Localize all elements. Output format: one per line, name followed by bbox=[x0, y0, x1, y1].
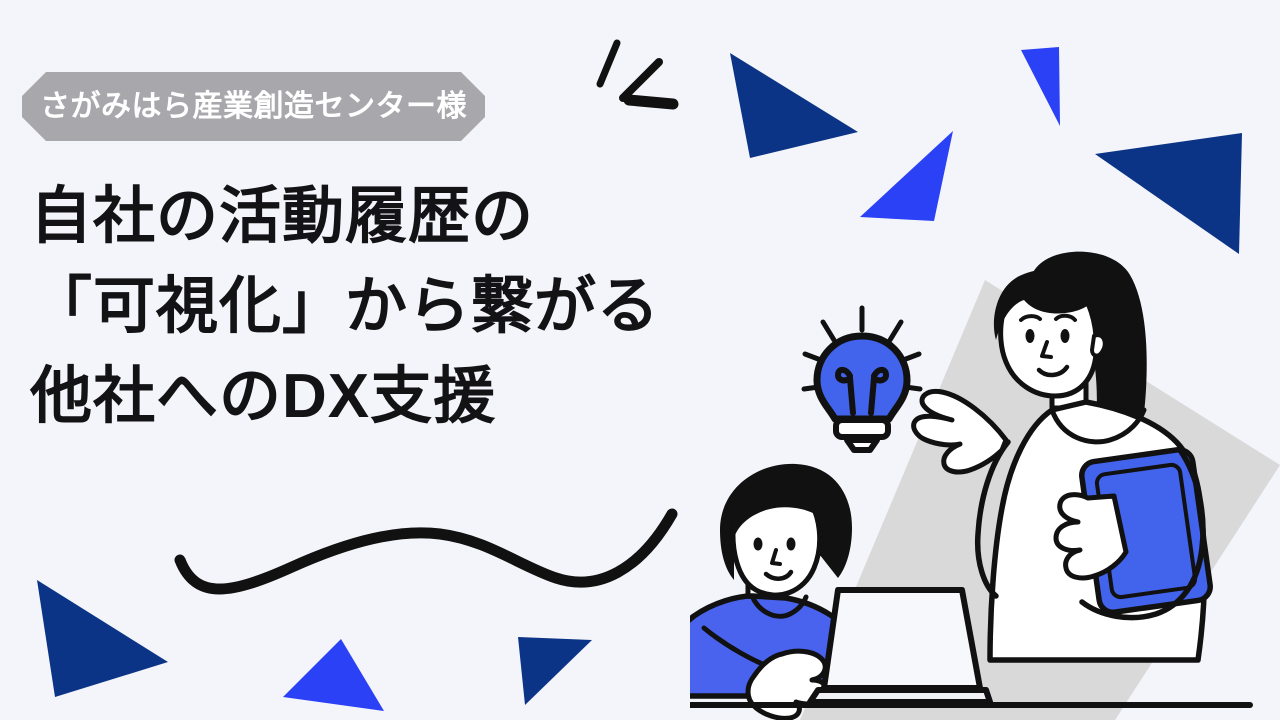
emphasis-strokes-icon bbox=[600, 43, 673, 104]
client-name-badge-label: さがみはら産業創造センター様 bbox=[40, 92, 467, 122]
triangle-bottom-blue-center bbox=[283, 639, 384, 711]
headline-line-1: 自社の活動履歴の bbox=[30, 172, 730, 262]
triangle-top-blue-mid bbox=[860, 131, 953, 221]
wave-line bbox=[180, 514, 672, 589]
headline-line-3: 他社へのDX支援 bbox=[30, 352, 730, 442]
triangle-top-navy-right bbox=[1095, 133, 1242, 254]
slide-canvas: さがみはら産業創造センター様 自社の活動履歴の 「可視化」から繋がる 他社へのD… bbox=[0, 0, 1280, 720]
triangle-bottom-navy-right bbox=[518, 637, 592, 705]
triangle-top-navy-left bbox=[730, 53, 858, 158]
triangle-top-blue-right bbox=[1021, 47, 1060, 126]
client-name-badge: さがみはら産業創造センター様 bbox=[22, 72, 485, 141]
headline-line-2: 「可視化」から繋がる bbox=[30, 262, 730, 352]
illustration-svg bbox=[690, 250, 1280, 720]
laptop-icon bbox=[810, 590, 990, 702]
triangle-bottom-navy-left bbox=[37, 580, 168, 697]
two-people-with-laptop-illustration bbox=[690, 250, 1280, 720]
lightbulb-icon bbox=[804, 308, 920, 450]
page-title: 自社の活動履歴の 「可視化」から繋がる 他社へのDX支援 bbox=[30, 172, 730, 442]
